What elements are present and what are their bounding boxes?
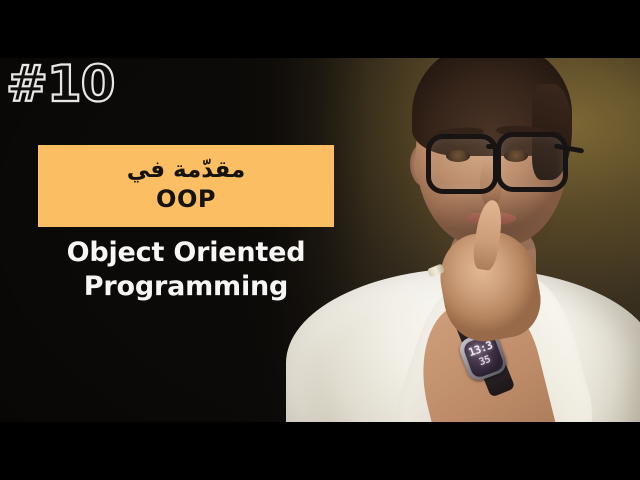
slide-canvas: 13:3 35 #10 مقدّمة في OOP Object Oriente… [0,0,640,480]
subtitle-line-2: Programming [38,270,334,304]
title-arabic: مقدّمة في [127,155,246,185]
text-content: #10 مقدّمة في OOP Object Oriented Progra… [0,0,360,480]
title-highlight-box: مقدّمة في OOP [38,145,334,227]
letterbox-bar-bottom [0,422,640,480]
letterbox-bar-top [0,0,640,58]
subtitle: Object Oriented Programming [38,236,334,304]
episode-number-badge: #10 [6,58,114,110]
subtitle-line-1: Object Oriented [38,236,334,270]
title-latin: OOP [156,185,216,213]
glasses-bridge [486,144,500,149]
glasses-lens-right [496,132,568,192]
glasses-lens-left [426,134,498,194]
